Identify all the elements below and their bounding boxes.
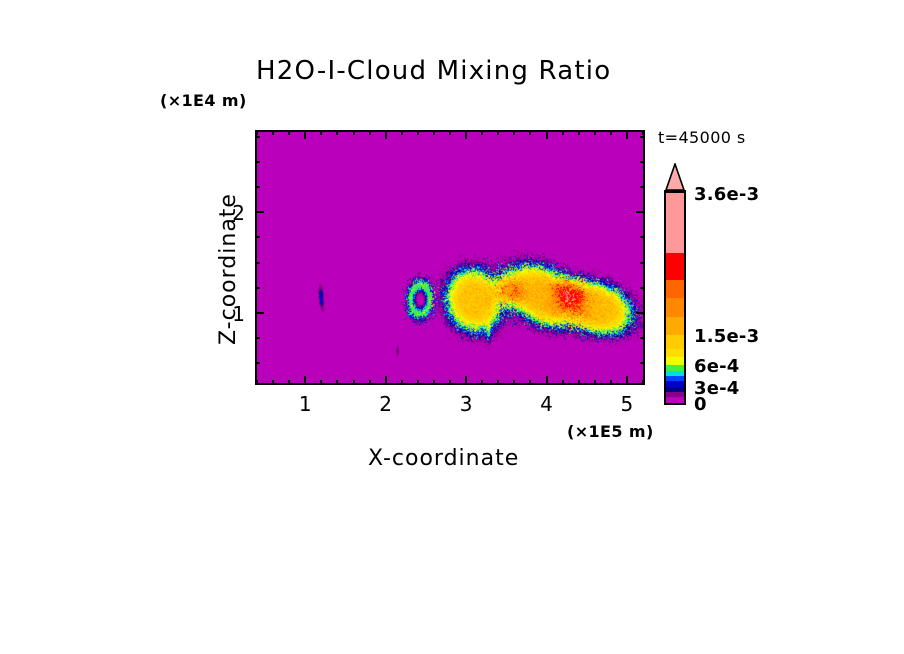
x-tick-minor: [594, 380, 596, 385]
x-tick-label: 5: [607, 392, 647, 416]
x-tick-minor: [433, 380, 435, 385]
colorbar-band: [666, 253, 684, 280]
x-tick-top-minor: [642, 130, 644, 135]
colorbar-tick-label: 6e-4: [694, 356, 740, 377]
colorbar-band: [666, 280, 684, 298]
y-tick-right-minor: [640, 337, 645, 339]
y-tick-minor: [255, 287, 260, 289]
colorbar-band: [666, 397, 684, 402]
heatmap-field: [257, 132, 643, 383]
x-tick-top-minor: [513, 130, 515, 135]
x-tick-minor: [256, 380, 258, 385]
colorbar-arrow-cap: [664, 163, 686, 191]
y-tick-right-minor: [640, 287, 645, 289]
x-tick-major: [385, 376, 387, 385]
x-tick-minor: [449, 380, 451, 385]
x-tick-top-minor: [481, 130, 483, 135]
y-tick-major: [255, 211, 264, 213]
x-tick-top-minor: [272, 130, 274, 135]
y-tick-right-minor: [640, 262, 645, 264]
x-tick-minor: [642, 380, 644, 385]
x-tick-top-major: [626, 130, 628, 139]
x-tick-label: 2: [366, 392, 406, 416]
x-tick-top-major: [304, 130, 306, 139]
y-tick-minor: [255, 161, 260, 163]
y-tick-right-minor: [640, 186, 645, 188]
x-tick-top-minor: [401, 130, 403, 135]
y-tick-minor: [255, 262, 260, 264]
y-tick-right-minor: [640, 161, 645, 163]
x-axis-unit-label: (×1E5 m): [567, 424, 654, 440]
y-tick-minor: [255, 136, 260, 138]
x-tick-top-minor: [433, 130, 435, 135]
x-tick-label: 3: [446, 392, 486, 416]
x-tick-major: [304, 376, 306, 385]
x-tick-minor: [417, 380, 419, 385]
x-tick-minor: [610, 380, 612, 385]
colorbar-gradient: [664, 191, 686, 405]
x-tick-top-minor: [288, 130, 290, 135]
colorbar-band: [666, 193, 684, 253]
y-tick-minor: [255, 362, 260, 364]
x-tick-minor: [497, 380, 499, 385]
x-tick-top-minor: [594, 130, 596, 135]
y-tick-right-minor: [640, 362, 645, 364]
y-tick-label: 2: [211, 201, 245, 225]
x-tick-major: [465, 376, 467, 385]
plot-area: [255, 130, 645, 385]
colorbar-tick-label: 1.5e-3: [694, 326, 759, 347]
x-tick-major: [546, 376, 548, 385]
y-tick-label: 1: [211, 302, 245, 326]
x-tick-top-minor: [578, 130, 580, 135]
colorbar-tick-label: 3.6e-3: [694, 184, 759, 205]
x-axis-title: X-coordinate: [368, 448, 519, 470]
x-tick-minor: [353, 380, 355, 385]
colorbar-band: [666, 335, 684, 348]
y-tick-right-major: [636, 312, 645, 314]
x-tick-top-minor: [256, 130, 258, 135]
colorbar-band: [666, 298, 684, 316]
y-tick-minor: [255, 236, 260, 238]
timestamp-annotation: t=45000 s: [658, 130, 746, 146]
x-tick-minor: [578, 380, 580, 385]
x-tick-minor: [320, 380, 322, 385]
y-tick-minor: [255, 337, 260, 339]
colorbar-tick-label: 0: [694, 394, 707, 415]
x-tick-top-minor: [449, 130, 451, 135]
y-tick-major: [255, 312, 264, 314]
x-tick-minor: [481, 380, 483, 385]
x-tick-minor: [369, 380, 371, 385]
x-tick-minor: [336, 380, 338, 385]
y-tick-right-major: [636, 211, 645, 213]
x-tick-top-minor: [497, 130, 499, 135]
y-axis-unit-label: (×1E4 m): [160, 93, 247, 109]
x-tick-label: 4: [527, 392, 567, 416]
colorbar-cap-divider: [664, 190, 686, 192]
colorbar-band: [666, 357, 684, 365]
x-tick-top-minor: [529, 130, 531, 135]
x-tick-top-major: [385, 130, 387, 139]
x-tick-major: [626, 376, 628, 385]
x-tick-minor: [562, 380, 564, 385]
x-tick-top-minor: [320, 130, 322, 135]
x-tick-top-major: [465, 130, 467, 139]
x-tick-minor: [401, 380, 403, 385]
x-tick-minor: [288, 380, 290, 385]
x-tick-top-minor: [417, 130, 419, 135]
x-tick-top-major: [546, 130, 548, 139]
x-tick-minor: [529, 380, 531, 385]
y-tick-right-minor: [640, 236, 645, 238]
x-tick-top-minor: [336, 130, 338, 135]
y-tick-right-minor: [640, 136, 645, 138]
x-tick-top-minor: [610, 130, 612, 135]
colorbar-band: [666, 349, 684, 357]
x-tick-top-minor: [562, 130, 564, 135]
y-tick-minor: [255, 186, 260, 188]
x-tick-top-minor: [353, 130, 355, 135]
page-title: H2O-I-Cloud Mixing Ratio: [256, 58, 611, 84]
x-tick-top-minor: [369, 130, 371, 135]
x-tick-minor: [513, 380, 515, 385]
x-tick-minor: [272, 380, 274, 385]
x-tick-label: 1: [285, 392, 325, 416]
colorbar-band: [666, 317, 684, 335]
